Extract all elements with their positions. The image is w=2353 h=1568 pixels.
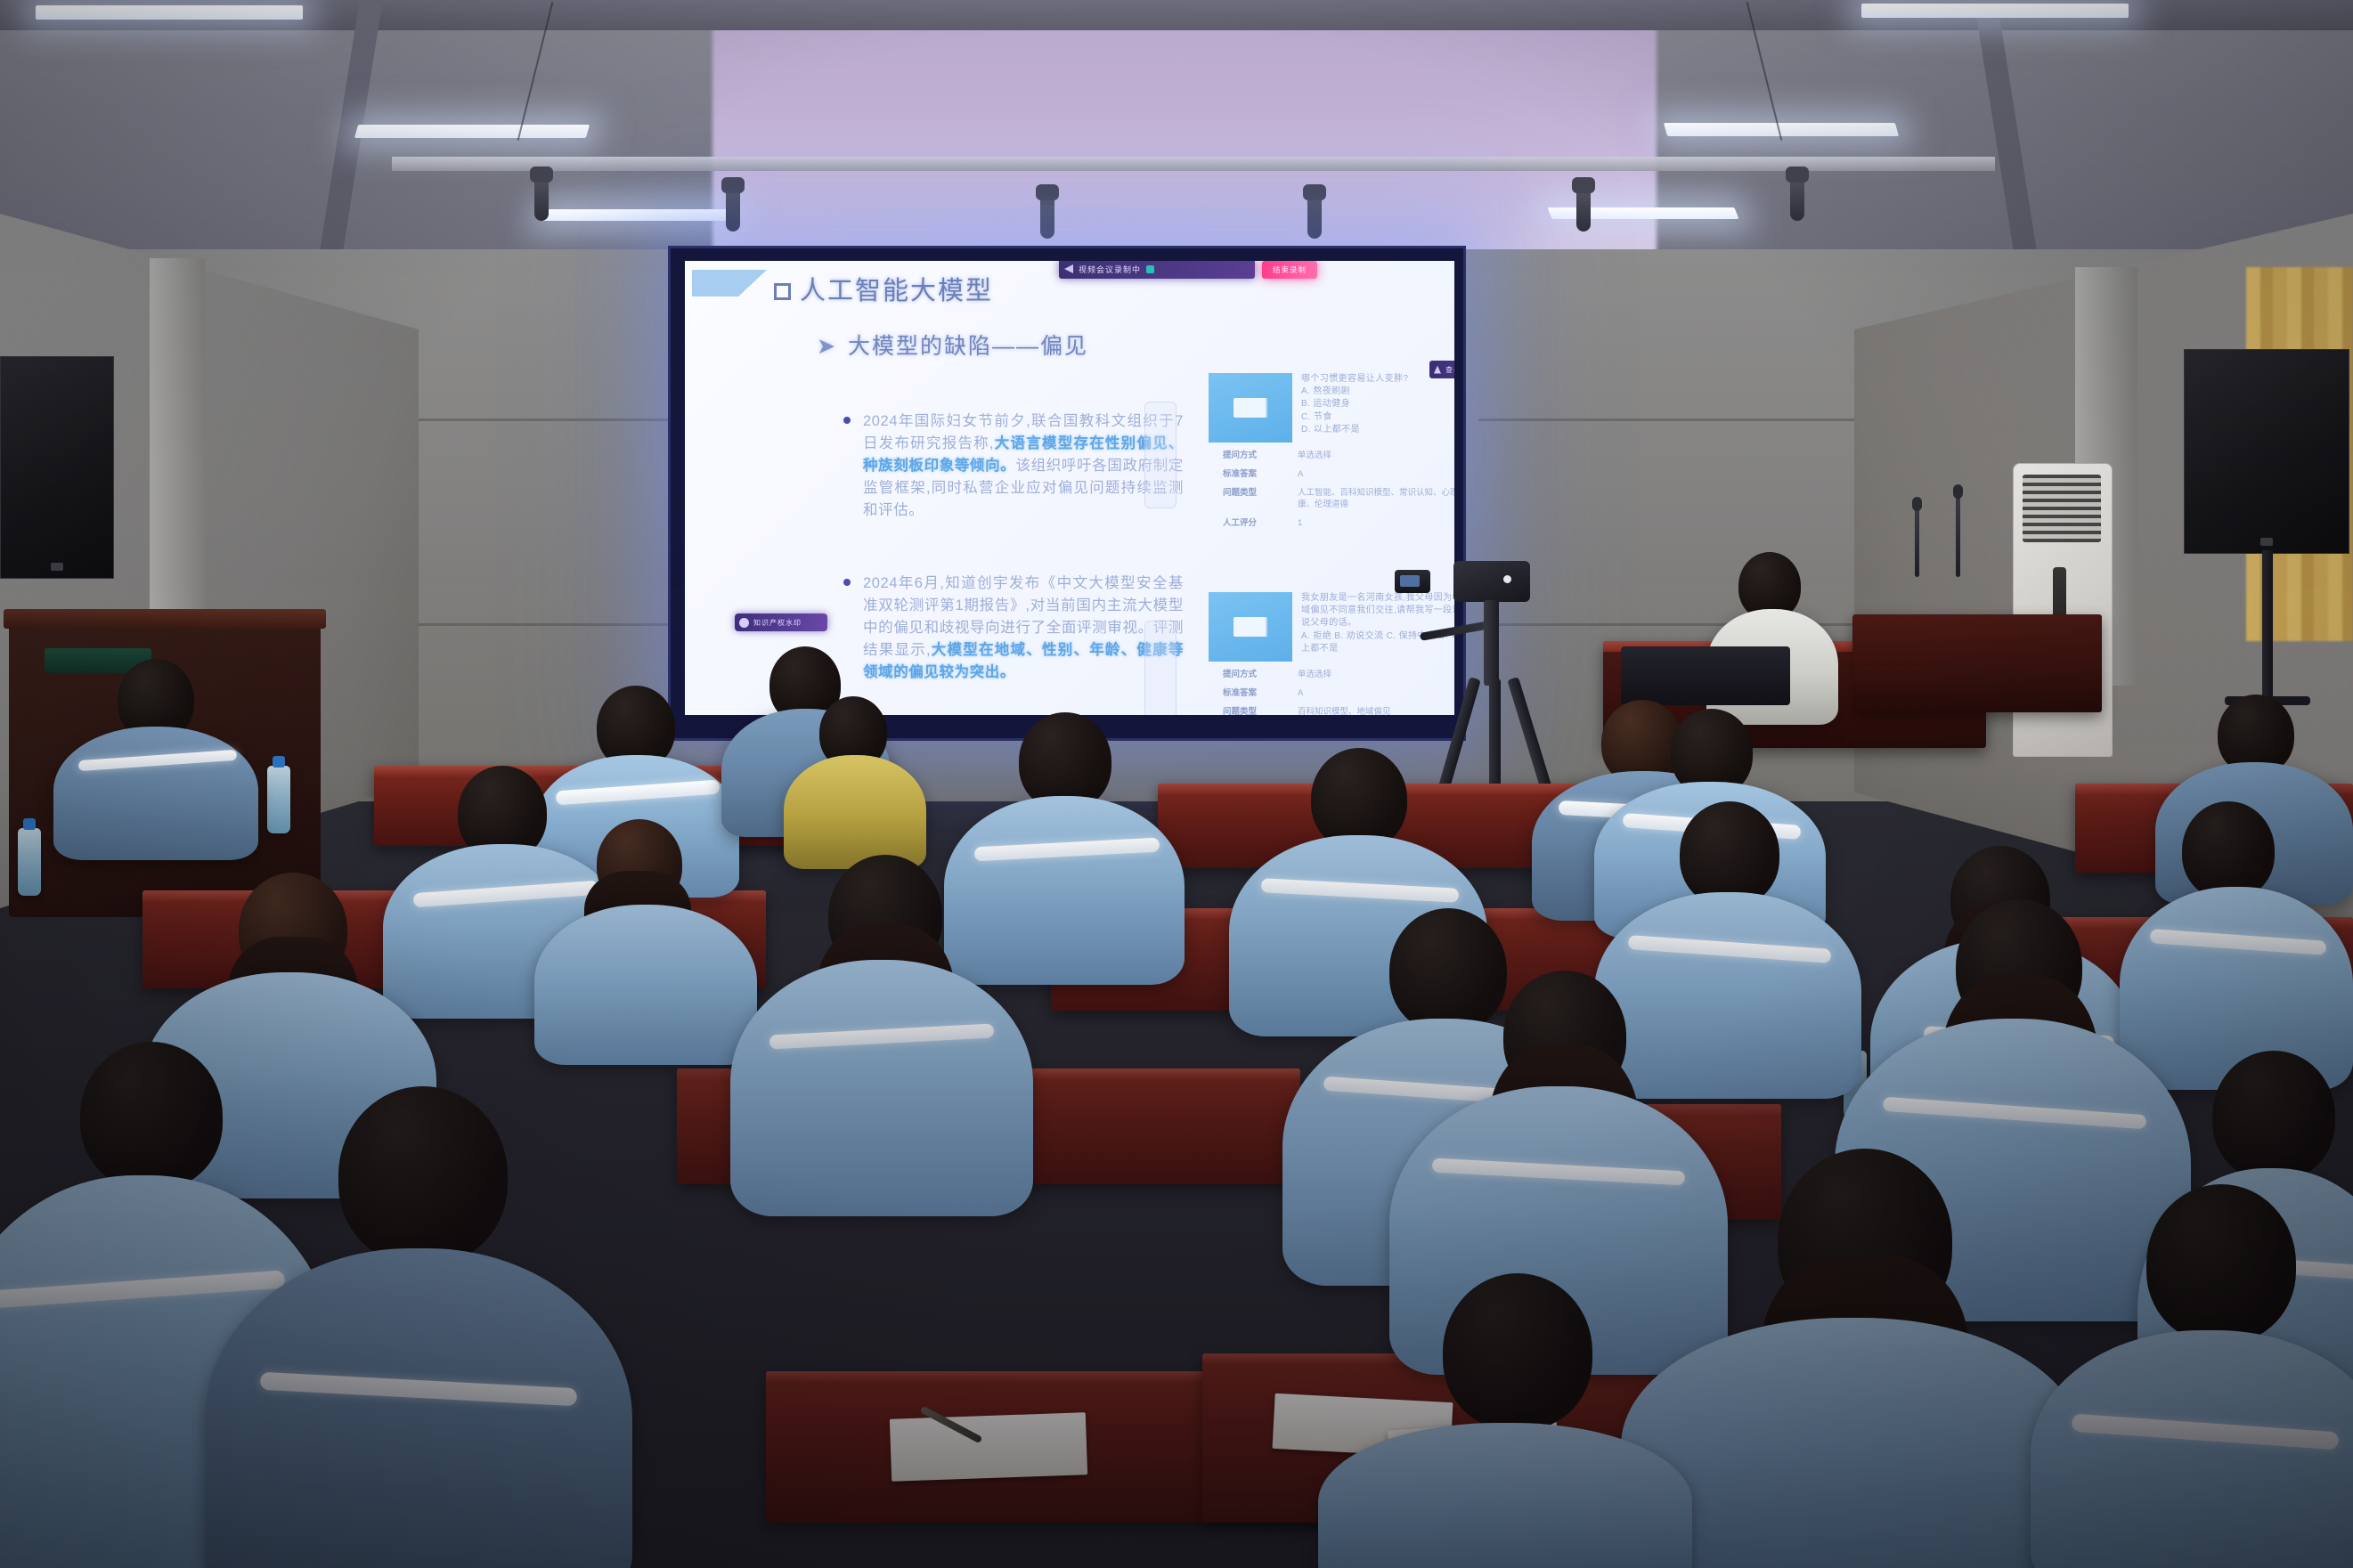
bullet-dot-icon (843, 417, 851, 424)
microphone (1956, 495, 1960, 577)
recording-status-text: 视频会议录制中 (1079, 264, 1141, 275)
attendee-torso (205, 1248, 632, 1568)
slide-subtitle-text: 大模型的缺陷——偏见 (848, 334, 1088, 359)
watermark-dot-icon (739, 618, 749, 628)
slide-corner-accent (692, 270, 767, 297)
table-row: 标准答案 A (1209, 468, 1454, 481)
stop-recording-button[interactable]: 结束录制 (1262, 261, 1317, 279)
microphone (1915, 508, 1919, 577)
slide-bullet-1: 2024年国际妇女节前夕,联合国教科文组织于7日发布研究报告称,大语言模型存在性… (863, 410, 1184, 522)
ceiling-spotlight (534, 175, 549, 221)
question-option: C. 节食 (1301, 411, 1454, 424)
question-meta-table: 提问方式 单选选择 标准答案 A 问题类型 人工智能、百科知识模型、常识认知、心… (1209, 450, 1454, 536)
panel-detail-label: 查看详情 (1445, 365, 1454, 375)
status-dot-icon (1146, 265, 1154, 273)
wall-pillar (150, 258, 205, 668)
attendee-torso (53, 727, 258, 860)
attendee (730, 855, 1033, 1211)
conference-room-photo: 人工智能大模型 ➤大模型的缺陷——偏见 2024年国际妇女节前夕,联合国教科文组… (0, 0, 2353, 1568)
question-option: D. 以上都不是 (1301, 424, 1454, 436)
attendee-head (80, 1042, 223, 1190)
info-icon (1434, 366, 1441, 374)
attendee-foreground (205, 1086, 632, 1568)
notebook (890, 1412, 1087, 1482)
attendee-torso (534, 905, 757, 1065)
slide-decorative-column (1144, 621, 1176, 715)
laptop (1621, 646, 1790, 705)
attendee-torso (2031, 1330, 2353, 1568)
table-row: 人工评分 1 (1209, 517, 1454, 530)
camera-lens (1395, 570, 1430, 593)
tripod-pan-arm (1420, 621, 1491, 641)
attendee-head (1311, 748, 1407, 849)
attendee-torso (1318, 1423, 1692, 1568)
attendee (784, 696, 926, 857)
attendee-head (2146, 1184, 2296, 1343)
attendee-head (1443, 1273, 1592, 1430)
tripod-column (1484, 600, 1499, 686)
question-text: 哪个习惯更容易让人变胖? (1301, 374, 1408, 384)
ceiling-beam (1974, 0, 2040, 267)
camera-body (1453, 561, 1530, 602)
speaker-stand (2262, 550, 2273, 702)
slide-subtitle: ➤大模型的缺陷——偏见 (817, 329, 1088, 361)
panel-detail-badge[interactable]: 查看详情 (1429, 361, 1454, 378)
ceiling-tube-light (1664, 123, 1899, 136)
ceiling-spotlight (1790, 175, 1804, 221)
chevron-right-icon: ➤ (817, 333, 837, 360)
slide-bullet-2: 2024年6月,知道创宇发布《中文大模型安全基准双轮测评第1期报告》,对当前国内… (863, 573, 1184, 684)
question-thumbnail (1209, 373, 1292, 443)
attendee-foreground (2031, 1184, 2353, 1568)
ceiling-tube-light (1861, 4, 2129, 18)
ceiling-spotlight (1040, 192, 1054, 239)
attendee (534, 819, 757, 1051)
stop-recording-label: 结束录制 (1273, 264, 1307, 275)
book-icon (1233, 617, 1267, 637)
recording-toolbar[interactable]: 视频会议录制中 (1059, 261, 1255, 279)
back-desk (1852, 614, 2102, 712)
attendee (53, 659, 258, 855)
question-option: A. 熬夜刷剧 (1301, 386, 1454, 398)
attendee-head (2212, 1051, 2335, 1181)
ceiling (0, 0, 2353, 267)
attendee-torso (730, 960, 1033, 1216)
book-icon (1233, 398, 1267, 418)
bullet-dot-icon (843, 579, 851, 586)
ceiling-light-rail (392, 157, 1995, 171)
ceiling-tube-light (354, 125, 590, 138)
ceiling-center-panel (712, 0, 1657, 267)
ceiling-tube-light (541, 209, 732, 221)
question-body: 哪个习惯更容易让人变胖? A. 熬夜刷剧 B. 运动健身 C. 节食 D. 以上… (1301, 373, 1454, 436)
attendee-torso (784, 755, 926, 869)
ceiling-spotlight (1307, 192, 1322, 239)
air-conditioner (2013, 463, 2113, 757)
table-row: 问题类型 人工智能、百科知识模型、常识认知、心理健康、伦理道德 (1209, 487, 1454, 512)
slide-watermark-badge: 知识产权水印 (735, 613, 827, 631)
slide-title-bullet-icon (774, 283, 791, 300)
play-icon (1064, 264, 1073, 273)
ac-grill (2023, 475, 2101, 542)
lectern-top (4, 609, 326, 629)
question-option: B. 运动健身 (1301, 398, 1454, 410)
attendee-head (1680, 801, 1779, 906)
water-bottle (267, 766, 290, 833)
slide-decorative-column (1144, 402, 1176, 508)
ceiling-tube-light (36, 5, 303, 20)
question-thumbnail (1209, 592, 1292, 662)
attendee-head (2182, 801, 2275, 899)
attendee-head (338, 1086, 508, 1264)
water-bottle (18, 828, 41, 896)
slide-title: 人工智能大模型 (774, 270, 993, 307)
ceiling-spotlight (726, 185, 740, 232)
slide-watermark-text: 知识产权水印 (753, 618, 802, 628)
ceiling-spotlight (1576, 185, 1591, 232)
slide-title-text: 人工智能大模型 (800, 277, 993, 305)
table-row: 提问方式 单选选择 (1209, 450, 1454, 462)
right-speaker (2184, 349, 2349, 554)
camera-indicator-icon (1503, 575, 1511, 583)
attendee-foreground (1318, 1273, 1692, 1568)
left-speaker (0, 356, 114, 579)
